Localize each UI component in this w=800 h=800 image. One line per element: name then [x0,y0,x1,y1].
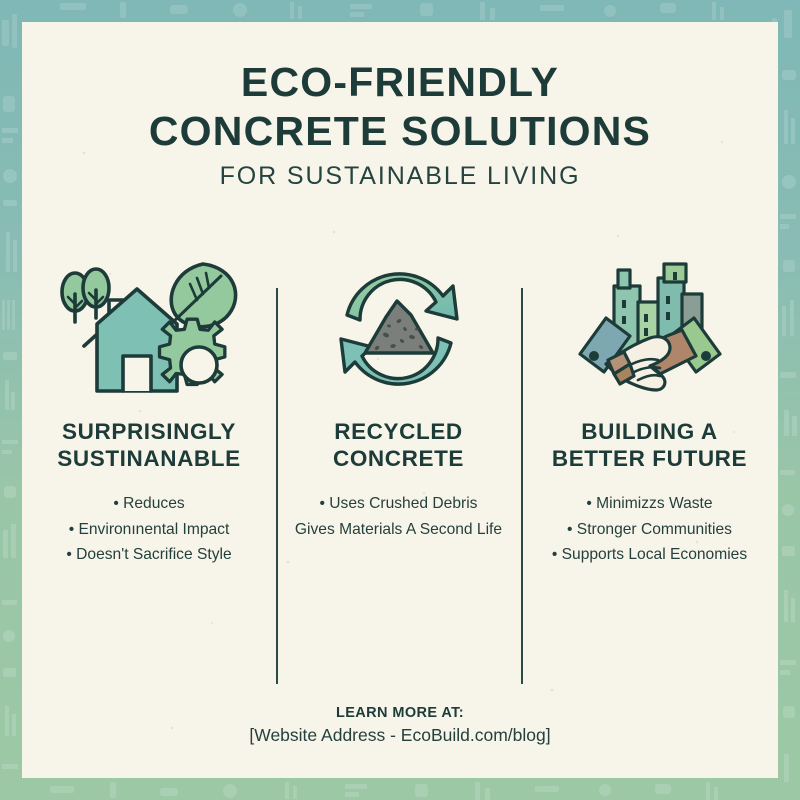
column-2-bullet-1: • Uses Crushed Debris [295,491,502,516]
column-3-heading: BUILDING A BETTER FUTURE [552,418,747,472]
column-3-bullet-3: • Supports Local Economies [552,542,747,567]
subtitle: FOR SUSTAINABLE LIVING [22,163,778,191]
column-3-bullet-1: • Minimizzs Waste [552,491,747,516]
column-3-heading-line-2: BETTER FUTURE [552,445,747,472]
column-3-heading-line-1: BUILDING A [552,418,747,445]
feature-columns: SURPRISINGLY SUSTINANABLE • Reduces • En… [22,254,778,567]
column-1-bullets: • Reduces • Environınental Impact • Does… [66,491,231,567]
column-3-bullets: • Minimizzs Waste • Stronger Communities… [552,491,747,567]
learn-more-label: LEARN MORE AT: [22,705,778,721]
feature-column-2: RECYCLED CONCRETE • Uses Crushed Debris … [276,254,521,542]
column-1-heading: SURPRISINGLY SUSTINANABLE [57,418,240,472]
column-2-bullets: • Uses Crushed Debris Gives Materials A … [295,491,502,542]
eco-house-icon-wrap [51,254,247,404]
content-card: ECO-FRIENDLY CONCRETE SOLUTIONS FOR SUST… [22,22,778,778]
recycled-concrete-icon [329,263,469,395]
column-3-bullet-2: • Stronger Communities [552,517,747,542]
column-1-bullet-1: • Reduces [66,491,231,516]
column-1-heading-line-2: SUSTINANABLE [57,445,240,472]
website-address[interactable]: [Website Address - EcoBuild.com/blog] [22,725,778,746]
column-2-heading-line-2: CONCRETE [333,445,464,472]
column-2-heading: RECYCLED CONCRETE [333,418,464,472]
column-1-bullet-3: • Doesn't Sacrifice Style [66,542,231,567]
eco-house-icon [51,256,247,402]
feature-column-3: BUILDING A BETTER FUTURE • Minimizzs Was… [521,254,778,567]
column-1-heading-line-1: SURPRISINGLY [57,418,240,445]
handshake-city-icon [572,256,728,402]
recycled-concrete-icon-wrap [329,254,469,404]
feature-column-1: SURPRISINGLY SUSTINANABLE • Reduces • En… [22,254,276,567]
column-1-bullet-2: • Environınental Impact [66,517,231,542]
handshake-city-icon-wrap [572,254,728,404]
poster-footer: LEARN MORE AT: [Website Address - EcoBui… [22,705,778,746]
poster-root: ECO-FRIENDLY CONCRETE SOLUTIONS FOR SUST… [0,0,800,800]
title-line-1: ECO-FRIENDLY [22,58,778,107]
column-2-heading-line-1: RECYCLED [333,418,464,445]
title-line-2: CONCRETE SOLUTIONS [22,107,778,156]
column-2-bullet-2: Gives Materials A Second Life [295,517,502,542]
poster-header: ECO-FRIENDLY CONCRETE SOLUTIONS FOR SUST… [22,58,778,190]
